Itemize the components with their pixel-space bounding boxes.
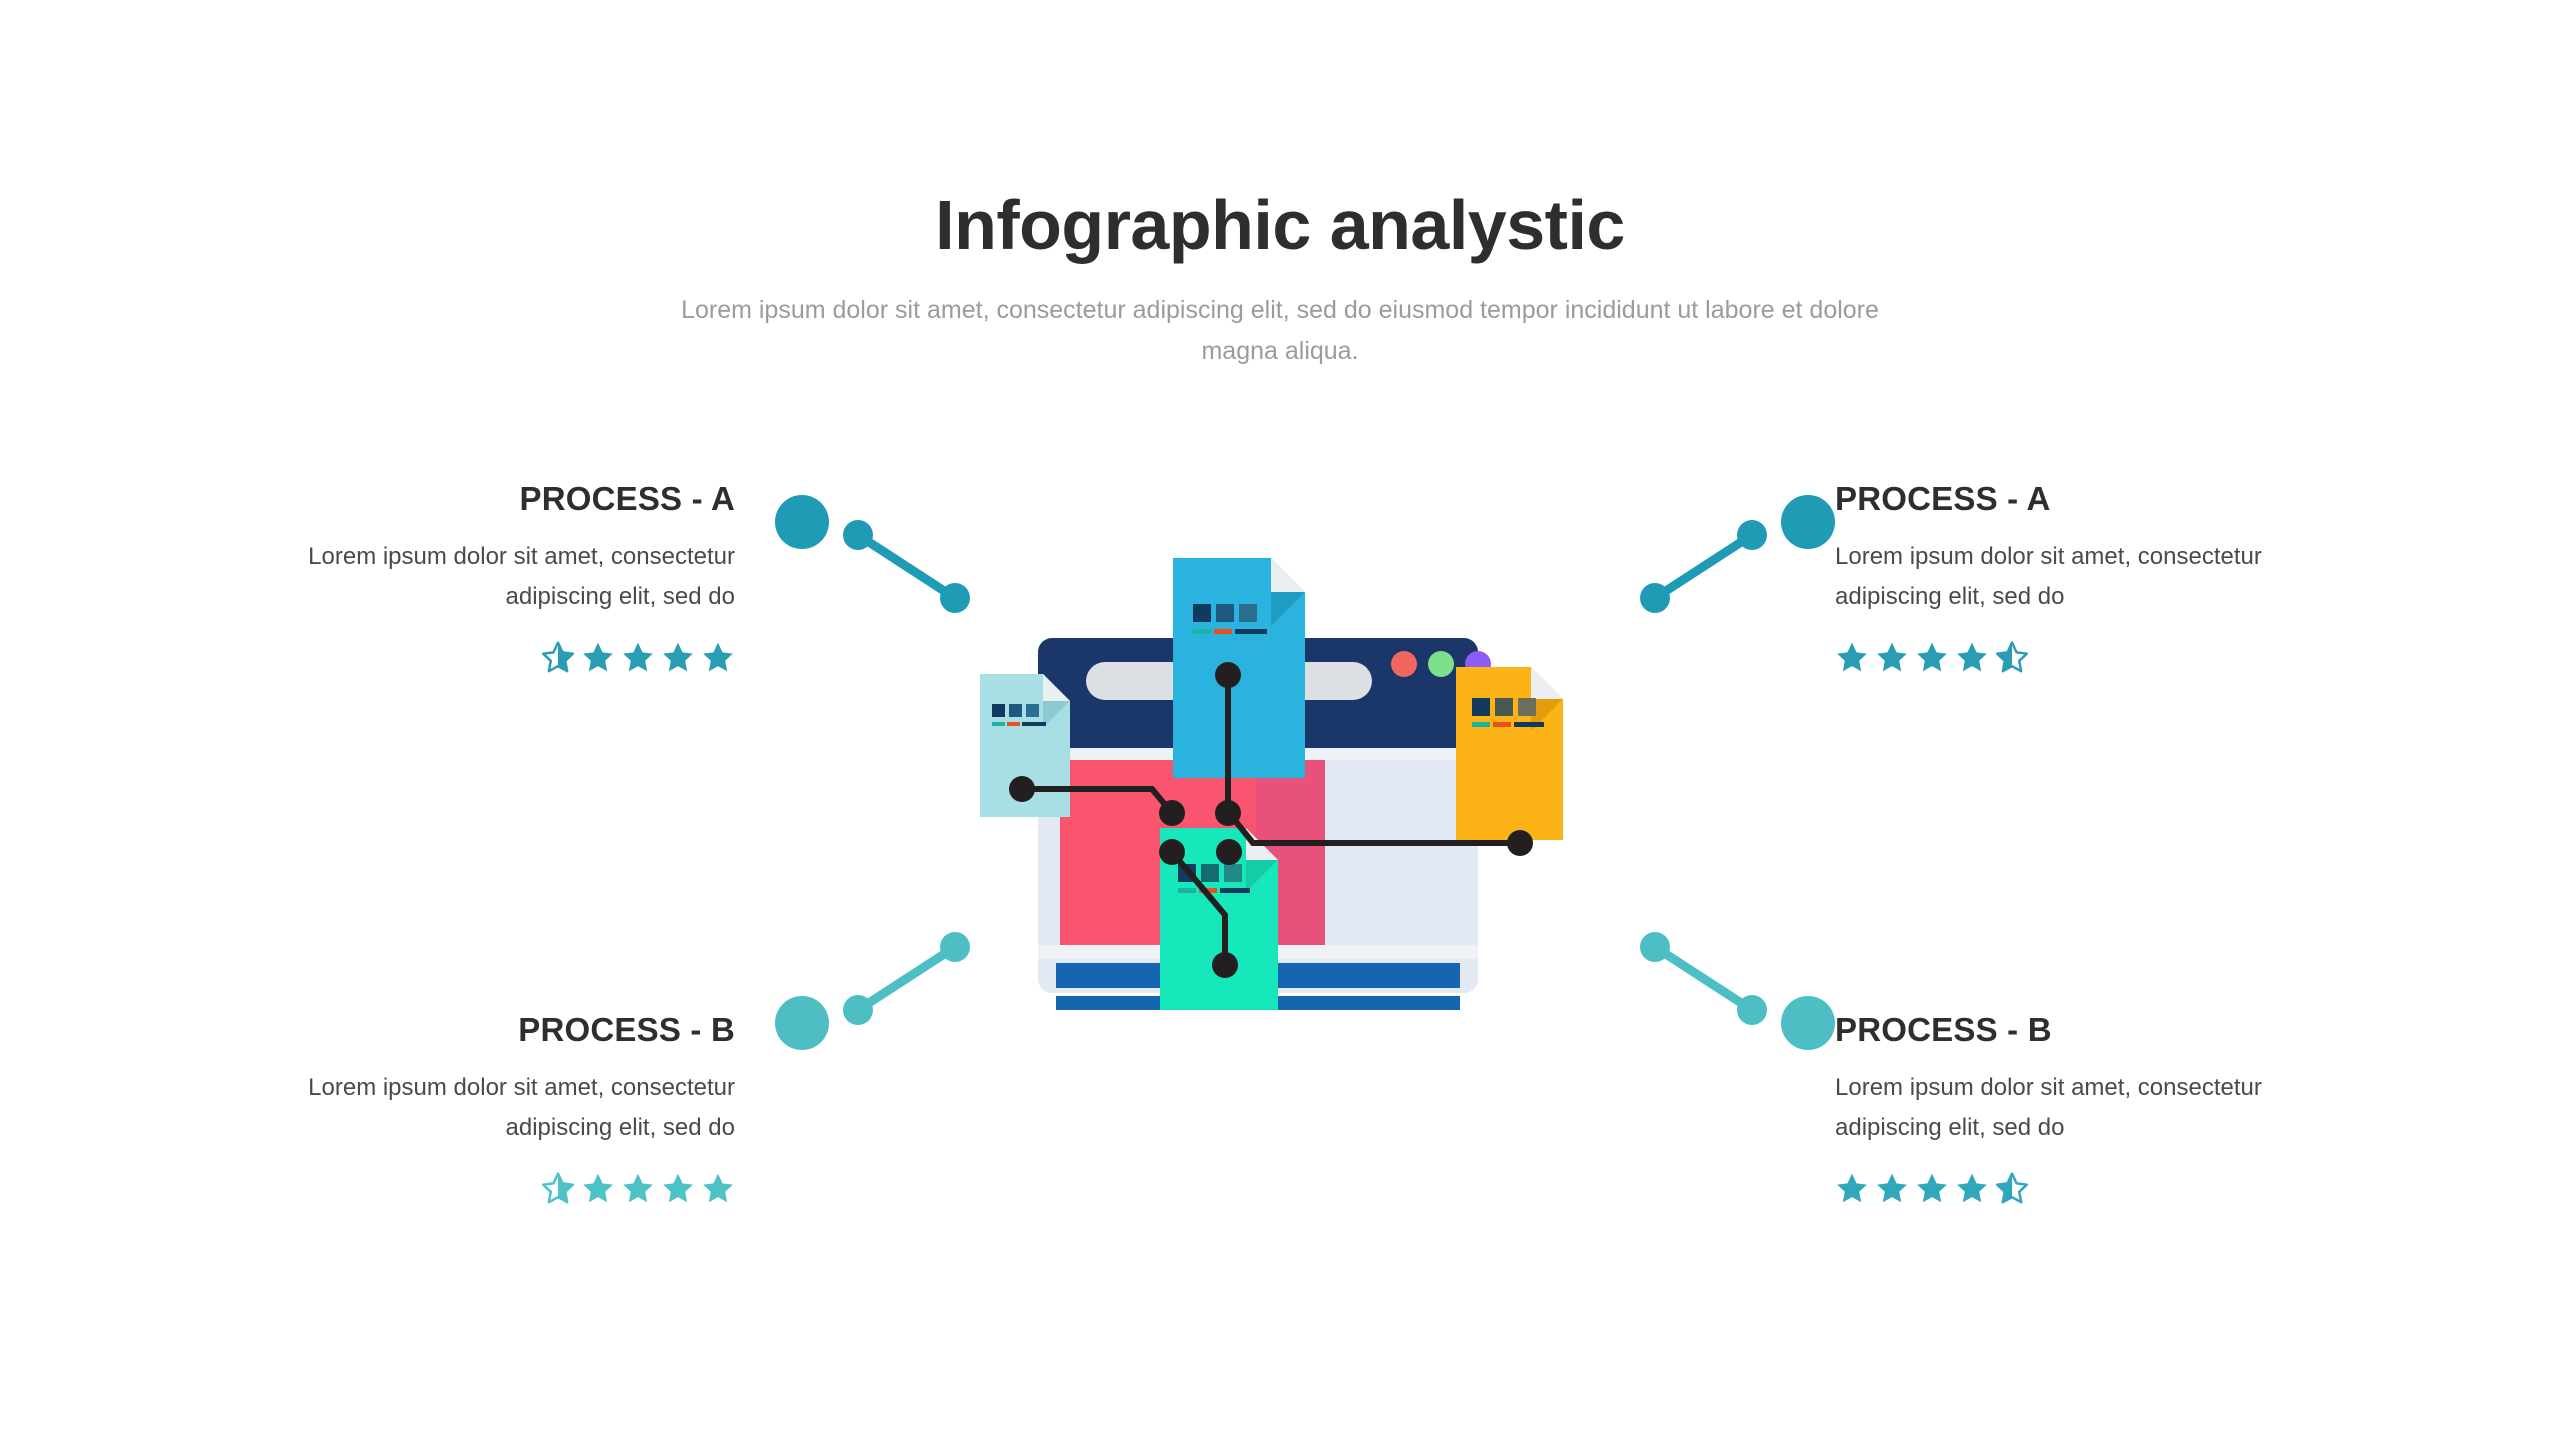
process-description: Lorem ipsum dolor sit amet, consectetur … xyxy=(215,537,735,616)
process-block-bottom-right[interactable]: PROCESS - B Lorem ipsum dolor sit amet, … xyxy=(1835,1013,2355,1209)
connector-bottom-right xyxy=(1580,920,1840,1065)
node-dot-right xyxy=(1507,830,1533,856)
connector-line xyxy=(1655,535,1752,598)
process-block-top-right[interactable]: PROCESS - A Lorem ipsum dolor sit amet, … xyxy=(1835,482,2355,678)
node-dot-bottom xyxy=(1212,952,1238,978)
star-full-icon[interactable] xyxy=(581,1172,615,1205)
node-dot-center-upper-left xyxy=(1159,800,1185,826)
connector-large-dot xyxy=(1781,996,1835,1050)
connector-small-dot xyxy=(1640,932,1670,962)
green-dot-icon xyxy=(1428,651,1454,677)
red-dot-icon xyxy=(1391,651,1417,677)
star-full-icon[interactable] xyxy=(621,1172,655,1205)
star-full-icon[interactable] xyxy=(1955,1172,1989,1205)
star-half-icon[interactable] xyxy=(541,1172,575,1205)
node-dot-center-lower-left xyxy=(1159,839,1185,865)
page-title: Infographic analystic xyxy=(0,190,2560,260)
document-card-top xyxy=(1173,558,1305,778)
connector-line xyxy=(858,535,955,598)
star-full-icon[interactable] xyxy=(1875,1172,1909,1205)
star-full-icon[interactable] xyxy=(1835,1172,1869,1205)
connector-small-dot xyxy=(1640,583,1670,613)
star-full-icon[interactable] xyxy=(701,1172,735,1205)
node-dot-left xyxy=(1009,776,1035,802)
process-description: Lorem ipsum dolor sit amet, consectetur … xyxy=(215,1068,735,1147)
process-block-top-left[interactable]: PROCESS - A Lorem ipsum dolor sit amet, … xyxy=(215,482,735,678)
infographic-page: Infographic analystic Lorem ipsum dolor … xyxy=(0,0,2560,1440)
connector-large-dot xyxy=(1781,495,1835,549)
rating-stars[interactable] xyxy=(1835,1167,2355,1209)
node-dot-center-upper-right xyxy=(1215,800,1241,826)
star-full-icon[interactable] xyxy=(1875,641,1909,674)
connector-top-right xyxy=(1580,485,1840,630)
process-description: Lorem ipsum dolor sit amet, consectetur … xyxy=(1835,537,2355,616)
star-full-icon[interactable] xyxy=(661,1172,695,1205)
star-half-icon[interactable] xyxy=(1995,1172,2029,1205)
process-title: PROCESS - B xyxy=(1835,1013,2355,1046)
star-full-icon[interactable] xyxy=(701,641,735,674)
process-title: PROCESS - B xyxy=(215,1013,735,1046)
connector-small-dot xyxy=(843,995,873,1025)
process-description: Lorem ipsum dolor sit amet, consectetur … xyxy=(1835,1068,2355,1147)
header: Infographic analystic Lorem ipsum dolor … xyxy=(0,190,2560,371)
node-dot-center-lower-right xyxy=(1216,839,1242,865)
star-full-icon[interactable] xyxy=(1835,641,1869,674)
node-dot-top xyxy=(1215,662,1241,688)
connector-line xyxy=(1655,947,1752,1010)
star-full-icon[interactable] xyxy=(581,641,615,674)
connector-large-dot xyxy=(775,495,829,549)
star-full-icon[interactable] xyxy=(1915,641,1949,674)
connector-small-dot xyxy=(843,520,873,550)
star-full-icon[interactable] xyxy=(1915,1172,1949,1205)
connector-small-dot xyxy=(1737,995,1767,1025)
central-illustration xyxy=(960,530,1600,1010)
star-full-icon[interactable] xyxy=(621,641,655,674)
process-title: PROCESS - A xyxy=(1835,482,2355,515)
star-full-icon[interactable] xyxy=(661,641,695,674)
document-card-right xyxy=(1456,667,1563,840)
analytics-illustration-svg xyxy=(960,530,1600,1010)
connector-small-dot xyxy=(1737,520,1767,550)
process-title: PROCESS - A xyxy=(215,482,735,515)
process-block-bottom-left[interactable]: PROCESS - B Lorem ipsum dolor sit amet, … xyxy=(215,1013,735,1209)
page-subtitle: Lorem ipsum dolor sit amet, consectetur … xyxy=(680,290,1880,371)
connector-large-dot xyxy=(775,996,829,1050)
rating-stars[interactable] xyxy=(215,636,735,678)
star-full-icon[interactable] xyxy=(1955,641,1989,674)
star-half-icon[interactable] xyxy=(1995,641,2029,674)
connector-line xyxy=(858,947,955,1010)
rating-stars[interactable] xyxy=(1835,636,2355,678)
rating-stars[interactable] xyxy=(215,1167,735,1209)
star-half-icon[interactable] xyxy=(541,641,575,674)
